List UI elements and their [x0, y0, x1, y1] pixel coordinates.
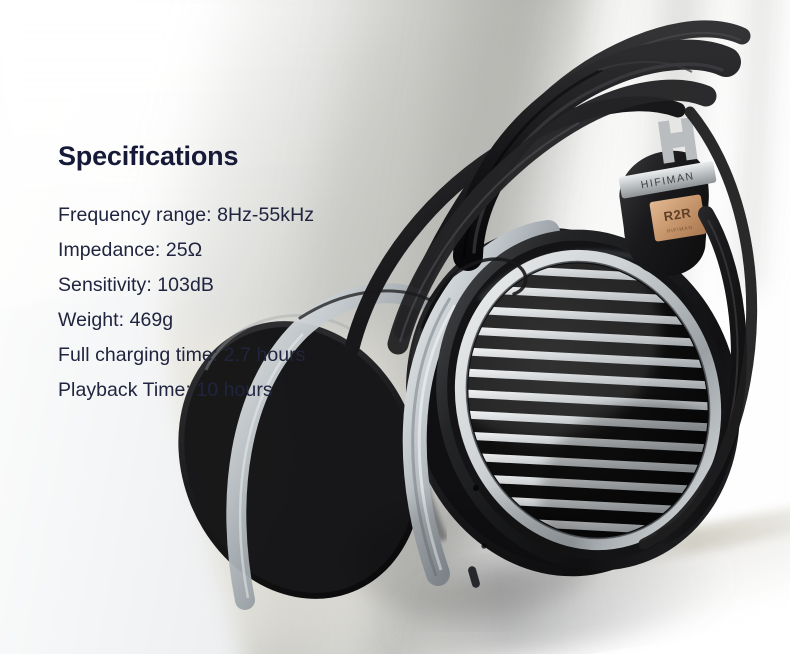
spec-item-weight: Weight: 469g — [58, 303, 388, 338]
spec-item-charging-time: Full charging time: 2.7 hours — [58, 338, 388, 373]
specifications-list: Frequency range: 8Hz-55kHz Impedance: 25… — [58, 198, 388, 408]
spec-item-impedance: Impedance: 25Ω — [58, 233, 388, 268]
cup-vent-hole — [473, 485, 479, 491]
spec-item-sensitivity: Sensitivity: 103dB — [58, 268, 388, 303]
screenshot-canvas: HIFIMAN R2R HIFIMAN — [0, 0, 790, 654]
spec-item-playback-time: Playback Time: 10 hours — [58, 373, 388, 408]
page-title: Specifications — [58, 142, 388, 172]
specifications-block: Specifications Frequency range: 8Hz-55kH… — [58, 142, 388, 408]
spec-item-frequency-range: Frequency range: 8Hz-55kHz — [58, 198, 388, 233]
copper-brand-plate: R2R HIFIMAN — [649, 194, 707, 242]
